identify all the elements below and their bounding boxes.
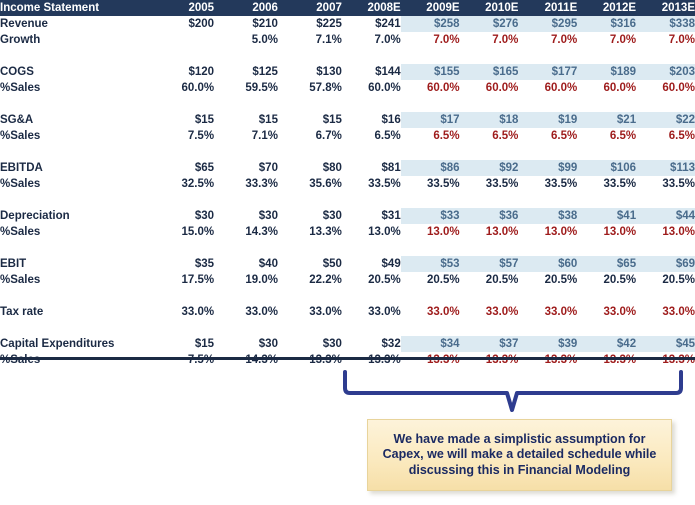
- table-title: Income Statement: [0, 0, 150, 16]
- cell-value: 22.2%: [278, 272, 342, 288]
- row-label: Growth: [0, 32, 150, 48]
- cell-value: 6.5%: [636, 128, 695, 144]
- row-spacer: [0, 192, 695, 208]
- cell-value: 33.5%: [636, 176, 695, 192]
- row-label: SG&A: [0, 112, 150, 128]
- cell-value: [150, 32, 214, 48]
- table-header-row: Income Statement 2005 2006 2007 2008E 20…: [0, 0, 695, 16]
- table-row: EBITDA$65$70$80$81$86$92$99$106$113: [0, 160, 695, 176]
- cell-value: 20.5%: [401, 272, 460, 288]
- cell-value: $15: [150, 112, 214, 128]
- cell-value: $69: [636, 256, 695, 272]
- cell-value: 13.3%: [636, 352, 695, 368]
- cell-value: $316: [577, 16, 636, 32]
- cell-value: 33.5%: [342, 176, 401, 192]
- cell-value: $53: [401, 256, 460, 272]
- cell-value: $200: [150, 16, 214, 32]
- cell-value: 33.0%: [518, 304, 577, 320]
- cell-value: $18: [460, 112, 519, 128]
- cell-value: $203: [636, 64, 695, 80]
- cell-value: $80: [278, 160, 342, 176]
- row-spacer: [0, 288, 695, 304]
- table-row: %Sales32.5%33.3%35.6%33.5%33.5%33.5%33.5…: [0, 176, 695, 192]
- cell-value: 33.0%: [150, 304, 214, 320]
- cell-value: $258: [401, 16, 460, 32]
- cell-value: $49: [342, 256, 401, 272]
- cell-value: 13.0%: [401, 224, 460, 240]
- cell-value: 7.0%: [342, 32, 401, 48]
- cell-value: 13.3%: [278, 224, 342, 240]
- column-header-2009E: 2009E: [401, 0, 460, 16]
- table-row: %Sales7.5%14.3%13.3%13.3%13.3%13.3%13.3%…: [0, 352, 695, 368]
- table-bottom-border: [0, 357, 695, 360]
- cell-value: $189: [577, 64, 636, 80]
- row-label: EBIT: [0, 256, 150, 272]
- table-row: Depreciation$30$30$30$31$33$36$38$41$44: [0, 208, 695, 224]
- cell-value: $177: [518, 64, 577, 80]
- cell-value: $99: [518, 160, 577, 176]
- cell-value: $30: [278, 336, 342, 352]
- cell-value: 14.3%: [214, 224, 278, 240]
- cell-value: 13.3%: [460, 352, 519, 368]
- cell-value: $15: [214, 112, 278, 128]
- column-header-2010E: 2010E: [460, 0, 519, 16]
- cell-value: $19: [518, 112, 577, 128]
- cell-value: 35.6%: [278, 176, 342, 192]
- cell-value: $17: [401, 112, 460, 128]
- cell-value: 33.0%: [636, 304, 695, 320]
- cell-value: $31: [342, 208, 401, 224]
- cell-value: $92: [460, 160, 519, 176]
- cell-value: $15: [150, 336, 214, 352]
- cell-value: $30: [214, 208, 278, 224]
- cell-value: $36: [460, 208, 519, 224]
- cell-value: 6.5%: [401, 128, 460, 144]
- row-label: %Sales: [0, 224, 150, 240]
- cell-value: 60.0%: [150, 80, 214, 96]
- table-row: %Sales60.0%59.5%57.8%60.0%60.0%60.0%60.0…: [0, 80, 695, 96]
- row-label: Capital Expenditures: [0, 336, 150, 352]
- cell-value: $120: [150, 64, 214, 80]
- cell-value: 6.5%: [342, 128, 401, 144]
- cell-value: 33.5%: [401, 176, 460, 192]
- cell-value: 33.5%: [460, 176, 519, 192]
- table-row: Tax rate33.0%33.0%33.0%33.0%33.0%33.0%33…: [0, 304, 695, 320]
- cell-value: 13.0%: [518, 224, 577, 240]
- cell-value: 32.5%: [150, 176, 214, 192]
- cell-value: $106: [577, 160, 636, 176]
- cell-value: 20.5%: [636, 272, 695, 288]
- cell-value: 33.0%: [401, 304, 460, 320]
- cell-value: 33.0%: [342, 304, 401, 320]
- cell-value: 33.5%: [518, 176, 577, 192]
- cell-value: 7.1%: [278, 32, 342, 48]
- row-label: Tax rate: [0, 304, 150, 320]
- row-spacer: [0, 320, 695, 336]
- cell-value: 6.5%: [577, 128, 636, 144]
- cell-value: $70: [214, 160, 278, 176]
- cell-value: 13.0%: [577, 224, 636, 240]
- cell-value: $86: [401, 160, 460, 176]
- cell-value: $155: [401, 64, 460, 80]
- cell-value: $241: [342, 16, 401, 32]
- cell-value: $41: [577, 208, 636, 224]
- row-label: EBITDA: [0, 160, 150, 176]
- cell-value: $21: [577, 112, 636, 128]
- cell-value: $15: [278, 112, 342, 128]
- row-spacer: [0, 240, 695, 256]
- cell-value: 13.3%: [401, 352, 460, 368]
- cell-value: 60.0%: [460, 80, 519, 96]
- cell-value: 33.0%: [214, 304, 278, 320]
- cell-value: 33.0%: [460, 304, 519, 320]
- cell-value: 33.3%: [214, 176, 278, 192]
- column-header-2008E: 2008E: [342, 0, 401, 16]
- cell-value: $65: [577, 256, 636, 272]
- row-label: %Sales: [0, 176, 150, 192]
- cell-value: $50: [278, 256, 342, 272]
- cell-value: $338: [636, 16, 695, 32]
- cell-value: $57: [460, 256, 519, 272]
- column-header-2011E: 2011E: [518, 0, 577, 16]
- cell-value: 19.0%: [214, 272, 278, 288]
- cell-value: 33.0%: [577, 304, 636, 320]
- cell-value: $30: [278, 208, 342, 224]
- cell-value: $165: [460, 64, 519, 80]
- cell-value: $33: [401, 208, 460, 224]
- cell-value: $42: [577, 336, 636, 352]
- cell-value: $34: [401, 336, 460, 352]
- cell-value: 13.3%: [577, 352, 636, 368]
- cell-value: 13.0%: [636, 224, 695, 240]
- cell-value: $113: [636, 160, 695, 176]
- row-spacer: [0, 96, 695, 112]
- cell-value: 7.5%: [150, 352, 214, 368]
- cell-value: 7.1%: [214, 128, 278, 144]
- cell-value: 6.5%: [460, 128, 519, 144]
- cell-value: $65: [150, 160, 214, 176]
- cell-value: 33.5%: [577, 176, 636, 192]
- cell-value: 7.0%: [577, 32, 636, 48]
- cell-value: 7.0%: [460, 32, 519, 48]
- table-row: Revenue$200$210$225$241$258$276$295$316$…: [0, 16, 695, 32]
- cell-value: 13.0%: [342, 224, 401, 240]
- cell-value: $37: [460, 336, 519, 352]
- cell-value: 7.0%: [518, 32, 577, 48]
- cell-value: $45: [636, 336, 695, 352]
- cell-value: 14.3%: [214, 352, 278, 368]
- cell-value: $30: [150, 208, 214, 224]
- cell-value: 6.7%: [278, 128, 342, 144]
- column-header-2007: 2007: [278, 0, 342, 16]
- column-header-2012E: 2012E: [577, 0, 636, 16]
- cell-value: $22: [636, 112, 695, 128]
- cell-value: $125: [214, 64, 278, 80]
- capex-callout-text: We have made a simplistic assumption for…: [368, 432, 671, 479]
- cell-value: 17.5%: [150, 272, 214, 288]
- cell-value: $40: [214, 256, 278, 272]
- cell-value: 20.5%: [342, 272, 401, 288]
- cell-value: $60: [518, 256, 577, 272]
- cell-value: $276: [460, 16, 519, 32]
- table-row: EBIT$35$40$50$49$53$57$60$65$69: [0, 256, 695, 272]
- cell-value: $16: [342, 112, 401, 128]
- cell-value: 60.0%: [518, 80, 577, 96]
- row-label: COGS: [0, 64, 150, 80]
- cell-value: 6.5%: [518, 128, 577, 144]
- table-row: %Sales15.0%14.3%13.3%13.0%13.0%13.0%13.0…: [0, 224, 695, 240]
- cell-value: $144: [342, 64, 401, 80]
- cell-value: 15.0%: [150, 224, 214, 240]
- cell-value: 7.0%: [636, 32, 695, 48]
- cell-value: 20.5%: [460, 272, 519, 288]
- cell-value: $32: [342, 336, 401, 352]
- row-label: Depreciation: [0, 208, 150, 224]
- row-label: %Sales: [0, 272, 150, 288]
- cell-value: 5.0%: [214, 32, 278, 48]
- cell-value: $44: [636, 208, 695, 224]
- cell-value: 60.0%: [577, 80, 636, 96]
- cell-value: 59.5%: [214, 80, 278, 96]
- column-header-2013E: 2013E: [636, 0, 695, 16]
- capex-brace-annotation: [341, 366, 685, 412]
- cell-value: 20.5%: [577, 272, 636, 288]
- row-label: Revenue: [0, 16, 150, 32]
- table-row: %Sales7.5%7.1%6.7%6.5%6.5%6.5%6.5%6.5%6.…: [0, 128, 695, 144]
- cell-value: 13.3%: [342, 352, 401, 368]
- row-label: %Sales: [0, 128, 150, 144]
- table-row: SG&A$15$15$15$16$17$18$19$21$22: [0, 112, 695, 128]
- row-label: %Sales: [0, 80, 150, 96]
- cell-value: 20.5%: [518, 272, 577, 288]
- row-spacer: [0, 144, 695, 160]
- cell-value: 60.0%: [342, 80, 401, 96]
- cell-value: 7.5%: [150, 128, 214, 144]
- cell-value: 60.0%: [636, 80, 695, 96]
- cell-value: 13.3%: [278, 352, 342, 368]
- income-statement-table: Income Statement 2005 2006 2007 2008E 20…: [0, 0, 695, 368]
- cell-value: 7.0%: [401, 32, 460, 48]
- row-label: %Sales: [0, 352, 150, 368]
- table-row: %Sales17.5%19.0%22.2%20.5%20.5%20.5%20.5…: [0, 272, 695, 288]
- cell-value: $35: [150, 256, 214, 272]
- capex-callout-box: We have made a simplistic assumption for…: [367, 419, 672, 491]
- column-header-2005: 2005: [150, 0, 214, 16]
- cell-value: 60.0%: [401, 80, 460, 96]
- cell-value: 13.3%: [518, 352, 577, 368]
- row-spacer: [0, 48, 695, 64]
- cell-value: $81: [342, 160, 401, 176]
- cell-value: $38: [518, 208, 577, 224]
- cell-value: $295: [518, 16, 577, 32]
- cell-value: $30: [214, 336, 278, 352]
- cell-value: $130: [278, 64, 342, 80]
- table-row: COGS$120$125$130$144$155$165$177$189$203: [0, 64, 695, 80]
- cell-value: 57.8%: [278, 80, 342, 96]
- cell-value: $225: [278, 16, 342, 32]
- cell-value: $210: [214, 16, 278, 32]
- table-row: Growth5.0%7.1%7.0%7.0%7.0%7.0%7.0%7.0%: [0, 32, 695, 48]
- cell-value: $39: [518, 336, 577, 352]
- cell-value: 33.0%: [278, 304, 342, 320]
- table-row: Capital Expenditures$15$30$30$32$34$37$3…: [0, 336, 695, 352]
- cell-value: 13.0%: [460, 224, 519, 240]
- column-header-2006: 2006: [214, 0, 278, 16]
